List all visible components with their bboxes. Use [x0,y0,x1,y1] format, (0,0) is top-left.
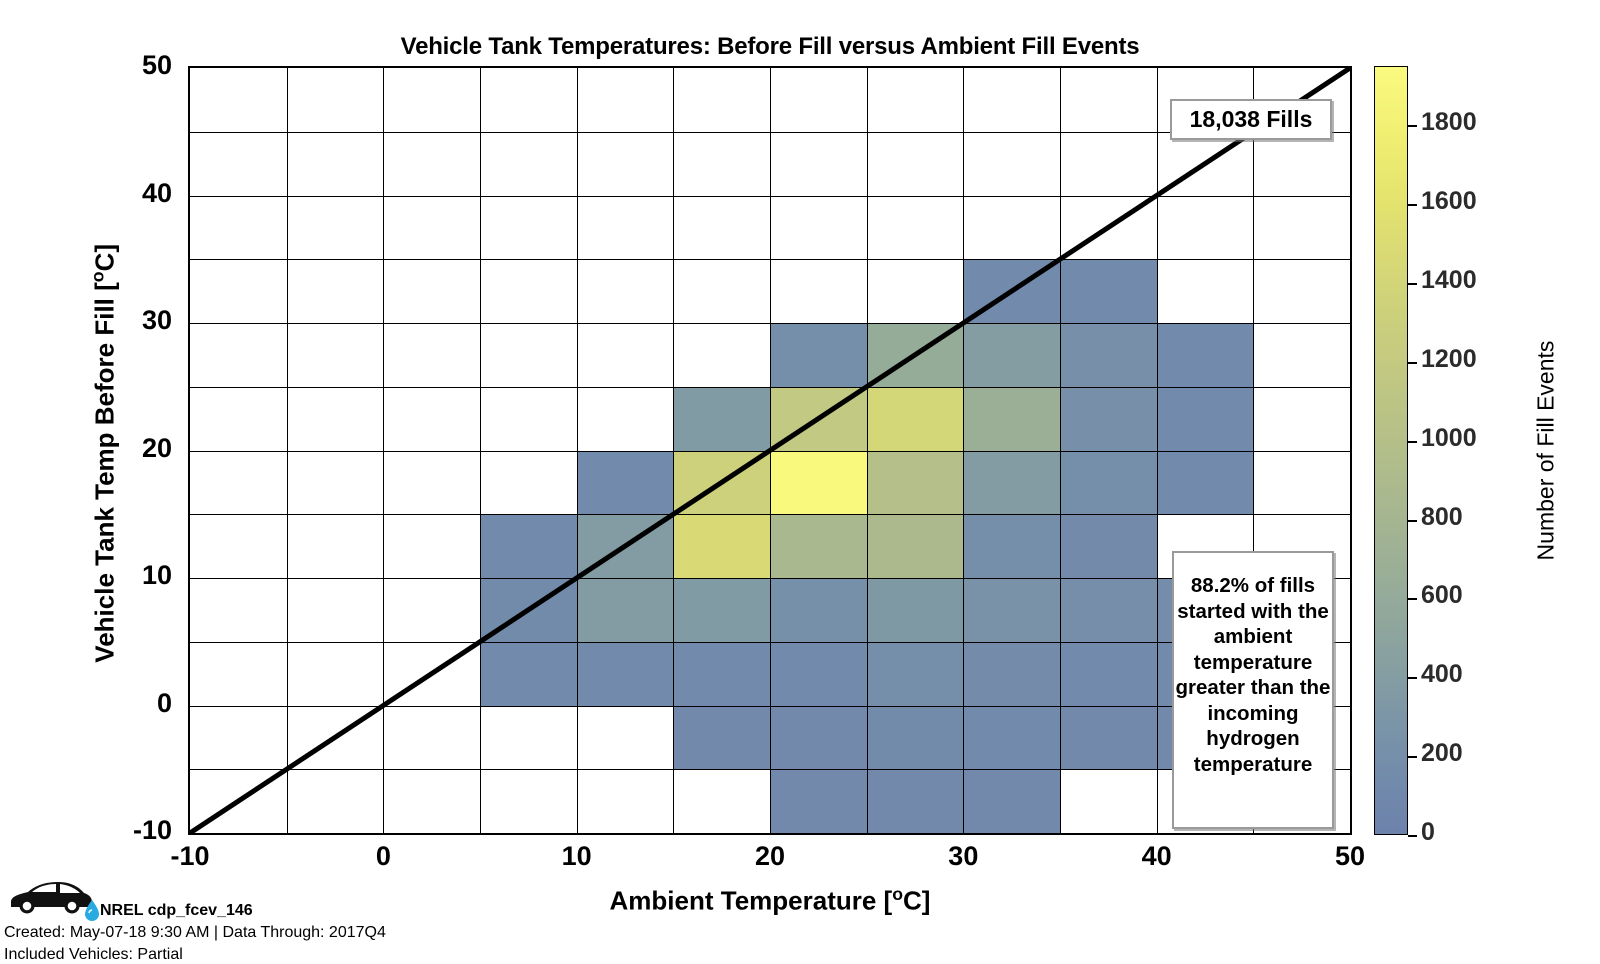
footer-report-id: NREL cdp_fcev_146 [100,902,253,920]
hydrogen-droplet-icon [84,900,100,926]
heatmap-cell [770,642,867,706]
heatmap-cell [1157,387,1254,451]
colorbar-tick-mark [1408,204,1417,206]
heatmap-cell [770,323,867,387]
x-axis-title-post: C] [903,886,930,916]
heatmap-cell [673,578,770,642]
colorbar-tick-mark [1408,677,1417,679]
colorbar-tick-label: 1200 [1421,345,1477,374]
colorbar-tick-mark [1408,835,1417,837]
colorbar-tick-label: 800 [1421,503,1463,532]
heatmap-cell [577,514,674,578]
x-tick-label: 10 [537,841,617,872]
heatmap-cell [480,642,577,706]
heatmap-cell [963,642,1060,706]
fill-count-annotation: 18,038 Fills [1170,99,1332,140]
colorbar-tick-label: 600 [1421,581,1463,610]
heatmap-cell [867,514,964,578]
colorbar-tick-mark [1408,125,1417,127]
y-axis-title-post: C] [89,244,119,271]
colorbar-tick-label: 200 [1421,739,1463,768]
colorbar-tick-mark [1408,520,1417,522]
heatmap-cell [867,387,964,451]
x-axis-title-pre: Ambient Temperature [ [610,886,893,916]
x-tick-label: 20 [730,841,810,872]
car-icon [8,880,94,914]
colorbar-title: Number of Fill Events [1533,131,1560,771]
heatmap-cell [963,387,1060,451]
colorbar-tick-mark [1408,756,1417,758]
heatmap-cell [577,451,674,515]
heatmap-cell [963,706,1060,770]
chart-canvas: Vehicle Tank Temperatures: Before Fill v… [0,0,1600,960]
grid-line-horizontal [190,451,1350,452]
heatmap-cell [673,706,770,770]
grid-line-horizontal [190,323,1350,324]
heatmap-cell [1060,706,1157,770]
heatmap-cell [673,642,770,706]
heatmap-cell [1060,259,1157,323]
heatmap-cell [963,451,1060,515]
heatmap-cell [480,514,577,578]
y-tick-label: -10 [82,815,172,846]
footer-included-vehicles: Included Vehicles: Partial [4,946,183,964]
heatmap-cell [963,578,1060,642]
colorbar-tick-mark [1408,598,1417,600]
heatmap-cell [770,578,867,642]
colorbar-tick-mark [1408,362,1417,364]
y-axis-degree-symbol: o [88,271,108,282]
colorbar-tick-mark [1408,283,1417,285]
heatmap-cell [867,578,964,642]
heatmap-cell [1060,451,1157,515]
heatmap-cell [1060,514,1157,578]
grid-line-horizontal [190,514,1350,515]
x-axis-title: Ambient Temperature [oC] [188,884,1352,917]
colorbar-tick-label: 400 [1421,660,1463,689]
heatmap-cell [867,451,964,515]
grid-line-horizontal [190,387,1350,388]
colorbar-tick-label: 1400 [1421,266,1477,295]
heatmap-cell [963,514,1060,578]
footer-created: Created: May-07-18 9:30 AM | Data Throug… [4,924,386,942]
heatmap-cell [770,514,867,578]
y-tick-label: 50 [82,50,172,81]
colorbar-tick-label: 1600 [1421,187,1477,216]
grid-line-horizontal [190,259,1350,260]
x-axis-degree-symbol: o [892,884,903,904]
colorbar-tick-label: 1000 [1421,424,1477,453]
heatmap-cell [770,387,867,451]
heatmap-cell [963,259,1060,323]
colorbar-gradient [1374,66,1408,835]
heatmap-cell [1157,451,1254,515]
heatmap-cell [867,323,964,387]
x-tick-label: 0 [343,841,423,872]
heatmap-cell [1060,387,1157,451]
grid-line-horizontal [190,196,1350,197]
heatmap-cell [867,769,964,833]
heatmap-cell [1157,323,1254,387]
heatmap-cell [480,578,577,642]
heatmap-cell [1060,642,1157,706]
y-axis-title: Vehicle Tank Temp Before Fill [oC] [88,103,121,803]
y-axis-title-pre: Vehicle Tank Temp Before Fill [ [89,282,119,662]
percentage-annotation: 88.2% of fills started with the ambient … [1172,551,1334,829]
heatmap-cell [963,769,1060,833]
heatmap-cell [1060,578,1157,642]
heatmap-cell [577,578,674,642]
heatmap-cell [963,323,1060,387]
x-tick-label: 30 [923,841,1003,872]
heatmap-cell [770,769,867,833]
colorbar-tick-label: 1800 [1421,108,1477,137]
heatmap-cell [673,451,770,515]
heatmap-cell [770,451,867,515]
heatmap-cell [770,706,867,770]
heatmap-cell [673,514,770,578]
colorbar-tick-mark [1408,441,1417,443]
colorbar-tick-label: 0 [1421,818,1435,847]
x-tick-label: 50 [1310,841,1390,872]
x-tick-label: 40 [1117,841,1197,872]
heatmap-cell [867,642,964,706]
heatmap-cell [1060,323,1157,387]
heatmap-cell [577,642,674,706]
heatmap-cell [673,387,770,451]
chart-title: Vehicle Tank Temperatures: Before Fill v… [188,33,1352,61]
heatmap-cell [867,706,964,770]
